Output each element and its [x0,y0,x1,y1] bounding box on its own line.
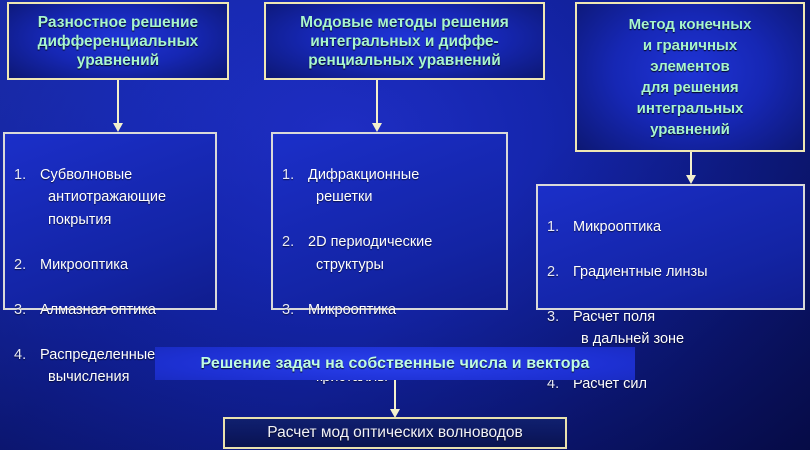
list-item-number: 3. [547,306,573,329]
list-box-3: 1.Микрооптика 2.Градиентные линзы 3.Расч… [536,184,805,310]
list-item-number: 1. [547,216,573,239]
emphasis-box-text: Решение задач на собственные числа и век… [155,355,635,373]
list-item: 3.Микрооптика [282,276,497,321]
list-item-number: 2. [14,254,40,277]
list-item-number: 1. [14,164,40,187]
list-item-text-continuation: структуры [282,254,497,277]
list-item-text-continuation: антиотражающие [14,186,206,209]
list-item-number: 3. [282,299,308,322]
list-item-text: 2D периодические [308,234,432,250]
arrow-down-3 [681,152,701,184]
header-box-3-text: Метод конечных и граничных элементов для… [583,14,797,140]
slide-canvas: Разностное решение дифференциальных урав… [0,0,810,450]
arrow-down-2 [367,80,387,132]
list-item: 1.Микрооптика [547,193,794,238]
list-item-text: Расчет поля [573,309,655,325]
list-item-number: 2. [282,231,308,254]
list-item-text: Микрооптика [40,257,128,273]
list-item: 1.Дифракционные решетки [282,141,497,209]
header-box-2: Модовые методы решения интегральных и ди… [264,2,545,80]
list-item-text: Алмазная оптика [40,302,156,318]
emphasis-box: Решение задач на собственные числа и век… [155,347,635,380]
list-box-1: 1.Субволновые антиотражающиепокрытия 2.М… [3,132,217,310]
list-item-number: 1. [282,164,308,187]
list-item-number: 2. [547,261,573,284]
list-item-text: Микрооптика [308,302,396,318]
list-item-text: Субволновые [40,167,132,183]
header-box-2-text: Модовые методы решения интегральных и ди… [272,13,537,70]
list-item-text: Микрооптика [573,219,661,235]
list-item-number: 4. [14,344,40,367]
final-box-text: Расчет мод оптических волноводов [225,424,565,442]
list-item: 2.Микрооптика [14,231,206,276]
list-item: 2.Градиентные линзы [547,238,794,283]
header-box-1: Разностное решение дифференциальных урав… [7,2,229,80]
list-item: 2.2D периодические структуры [282,209,497,277]
list-item-text: Дифракционные [308,167,419,183]
list-item-text-continuation: решетки [282,186,497,209]
list-item-text-continuation: покрытия [14,209,206,232]
header-box-3: Метод конечных и граничных элементов для… [575,2,805,152]
list-item-text: Градиентные линзы [573,264,708,280]
list-item-number: 3. [14,299,40,322]
list-item: 3.Алмазная оптика [14,276,206,321]
header-box-1-text: Разностное решение дифференциальных урав… [15,13,221,70]
final-box: Расчет мод оптических волноводов [223,417,567,449]
list-item: 3.Расчет поля в дальней зоне [547,283,794,351]
list-item-text: Распределенные [40,347,155,363]
list-item: 1.Субволновые антиотражающиепокрытия [14,141,206,231]
list-box-2: 1.Дифракционные решетки 2.2D периодическ… [271,132,508,310]
arrow-down-1 [108,80,128,132]
